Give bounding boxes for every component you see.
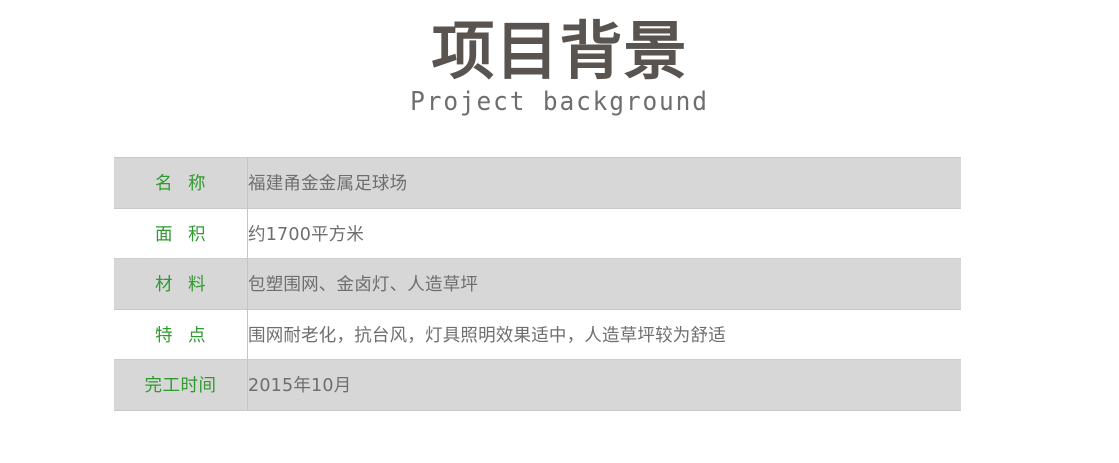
row-value-cell: 2015年10月 [248,360,962,411]
project-spec-table: 名 称 福建甬金金属足球场 面 积 约1700平方米 材 料 包塑围网、金卤灯、… [114,157,961,411]
row-label: 特 点 [155,322,206,347]
table-row: 面 积 约1700平方米 [114,208,961,259]
table-row: 材 料 包塑围网、金卤灯、人造草坪 [114,259,961,310]
row-label: 完工时间 [145,372,217,397]
row-value-cell: 福建甬金金属足球场 [248,158,962,209]
row-value-cell: 围网耐老化，抗台风，灯具照明效果适中，人造草坪较为舒适 [248,309,962,360]
row-label: 材 料 [155,271,206,296]
row-label-cell: 面 积 [114,208,248,259]
row-label-cell: 特 点 [114,309,248,360]
row-label-cell: 名 称 [114,158,248,209]
page-subtitle: Project background [34,88,1086,118]
row-value-cell: 约1700平方米 [248,208,962,259]
row-label: 面 积 [155,221,206,246]
table-row: 特 点 围网耐老化，抗台风，灯具照明效果适中，人造草坪较为舒适 [114,309,961,360]
page-title: 项目背景 [0,18,1119,86]
table-row: 完工时间 2015年10月 [114,360,961,411]
row-label: 名 称 [155,170,206,195]
page-header: 项目背景 Project background [0,0,1119,118]
spec-table-body: 名 称 福建甬金金属足球场 面 积 约1700平方米 材 料 包塑围网、金卤灯、… [114,158,961,411]
table-row: 名 称 福建甬金金属足球场 [114,158,961,209]
row-label-cell: 完工时间 [114,360,248,411]
row-value-cell: 包塑围网、金卤灯、人造草坪 [248,259,962,310]
row-label-cell: 材 料 [114,259,248,310]
